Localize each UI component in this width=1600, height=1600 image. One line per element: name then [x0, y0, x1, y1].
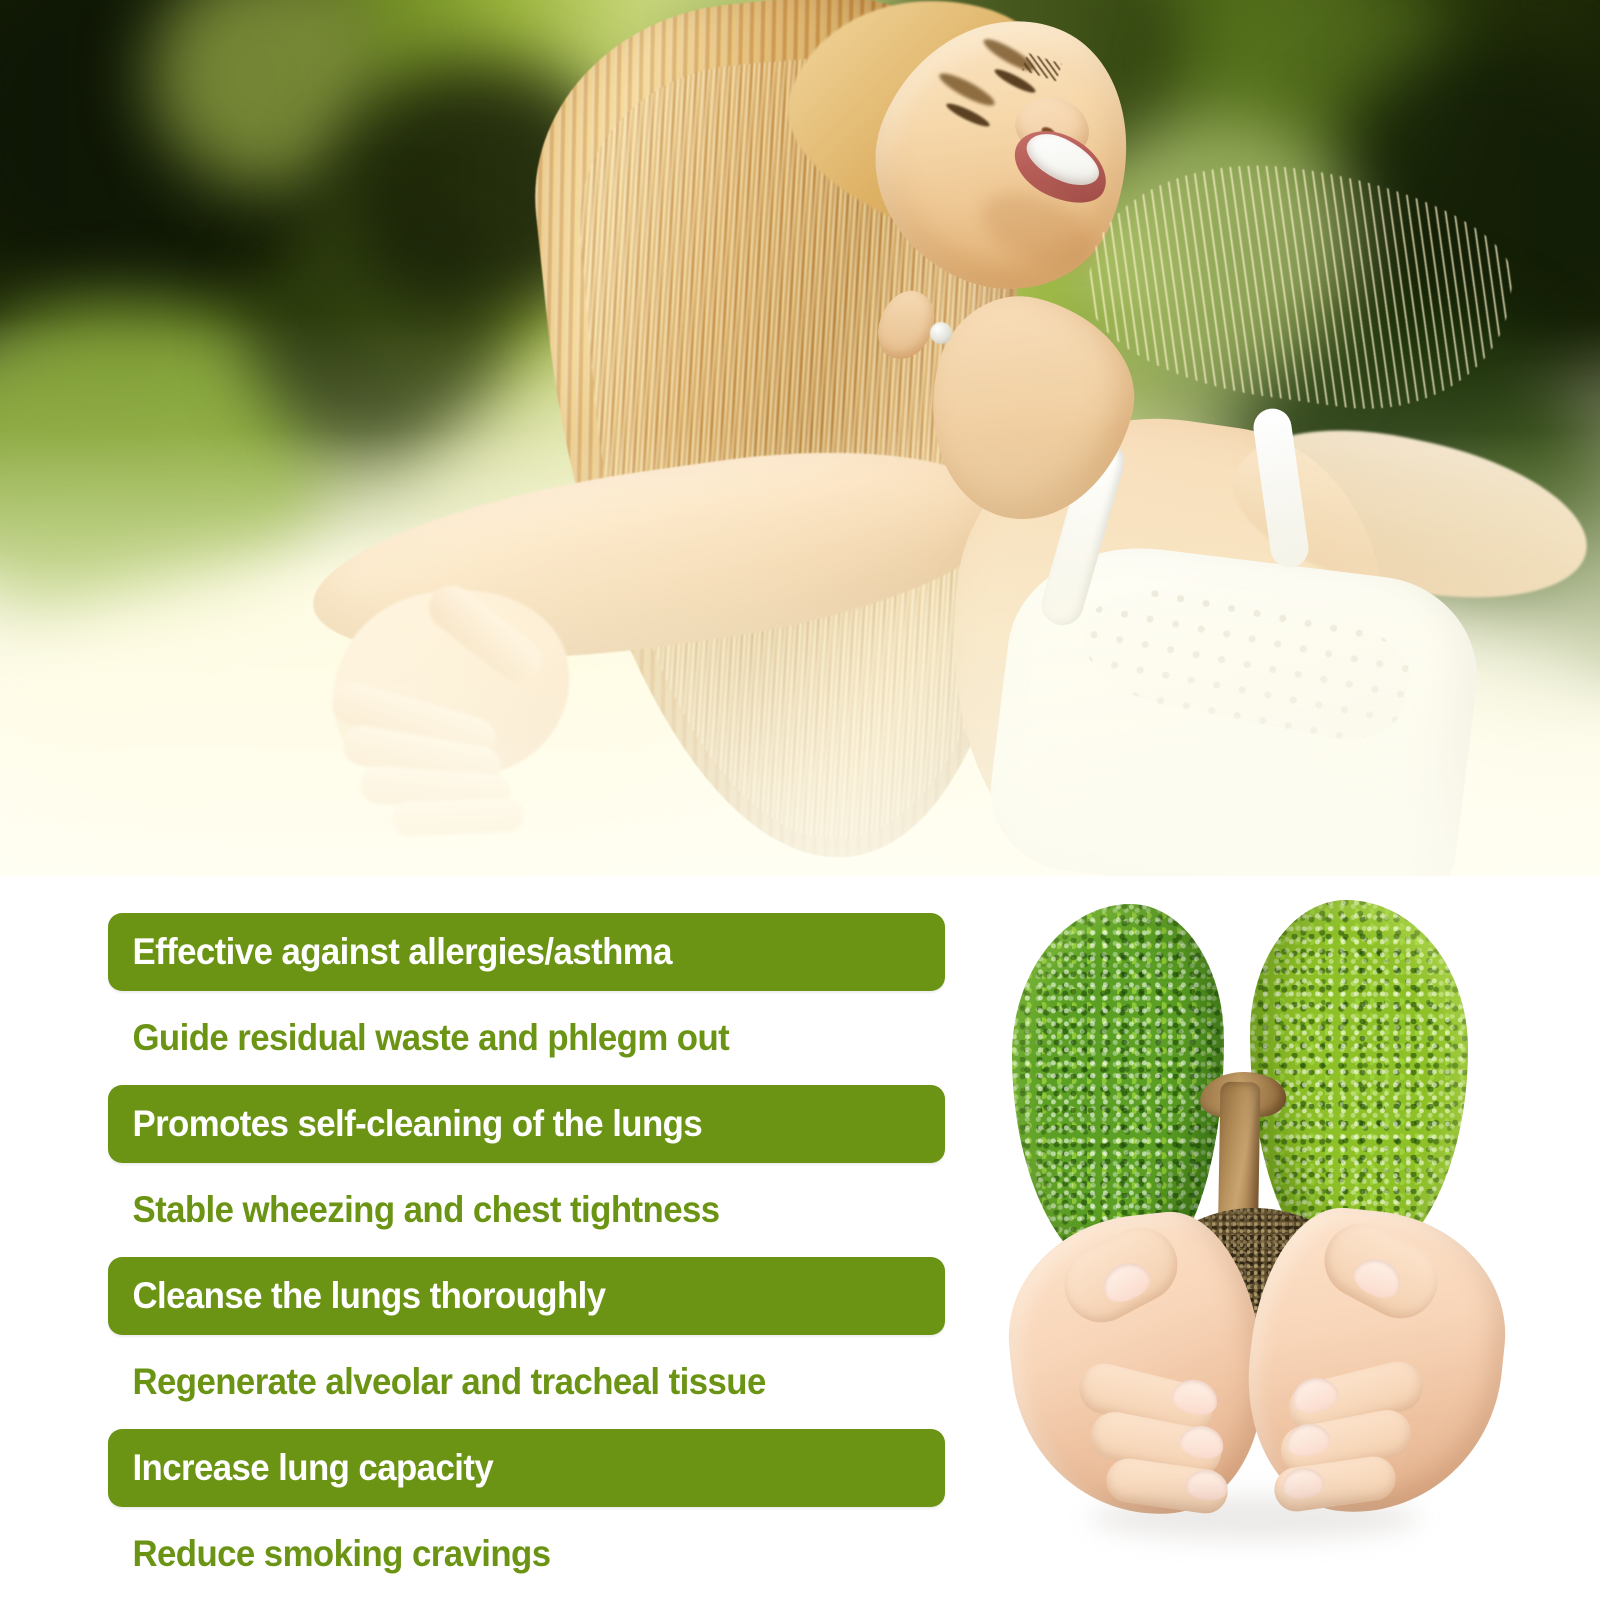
benefit-item-5[interactable]: Cleanse the lungs thoroughly — [108, 1257, 945, 1335]
promo-page: Effective against allergies/asthma Guide… — [0, 0, 1600, 1600]
lung-tree-illustration — [950, 886, 1550, 1586]
woman-figure — [0, 0, 1600, 876]
benefit-label: Increase lung capacity — [108, 1447, 493, 1489]
benefit-item-1[interactable]: Effective against allergies/asthma — [108, 913, 945, 991]
benefit-item-6[interactable]: Regenerate alveolar and tracheal tissue — [108, 1343, 945, 1421]
benefit-label: Effective against allergies/asthma — [108, 931, 672, 973]
benefit-label: Guide residual waste and phlegm out — [108, 1017, 729, 1059]
benefit-label: Stable wheezing and chest tightness — [108, 1189, 720, 1231]
finger — [391, 798, 524, 837]
flyaway-hair — [1076, 142, 1524, 428]
hero-photo — [0, 0, 1600, 876]
benefit-item-2[interactable]: Guide residual waste and phlegm out — [108, 999, 945, 1077]
benefit-item-3[interactable]: Promotes self-cleaning of the lungs — [108, 1085, 945, 1163]
benefit-label: Regenerate alveolar and tracheal tissue — [108, 1361, 766, 1403]
benefit-item-8[interactable]: Reduce smoking cravings — [108, 1515, 945, 1593]
benefits-list: Effective against allergies/asthma Guide… — [108, 913, 948, 1600]
hand-shadow — [1090, 1496, 1420, 1540]
benefit-label: Reduce smoking cravings — [108, 1533, 551, 1575]
benefit-label: Cleanse the lungs thoroughly — [108, 1275, 606, 1317]
benefit-label: Promotes self-cleaning of the lungs — [108, 1103, 702, 1145]
earring — [930, 322, 952, 344]
benefits-panel: Effective against allergies/asthma Guide… — [0, 876, 1600, 1600]
benefit-item-7[interactable]: Increase lung capacity — [108, 1429, 945, 1507]
benefit-item-4[interactable]: Stable wheezing and chest tightness — [108, 1171, 945, 1249]
